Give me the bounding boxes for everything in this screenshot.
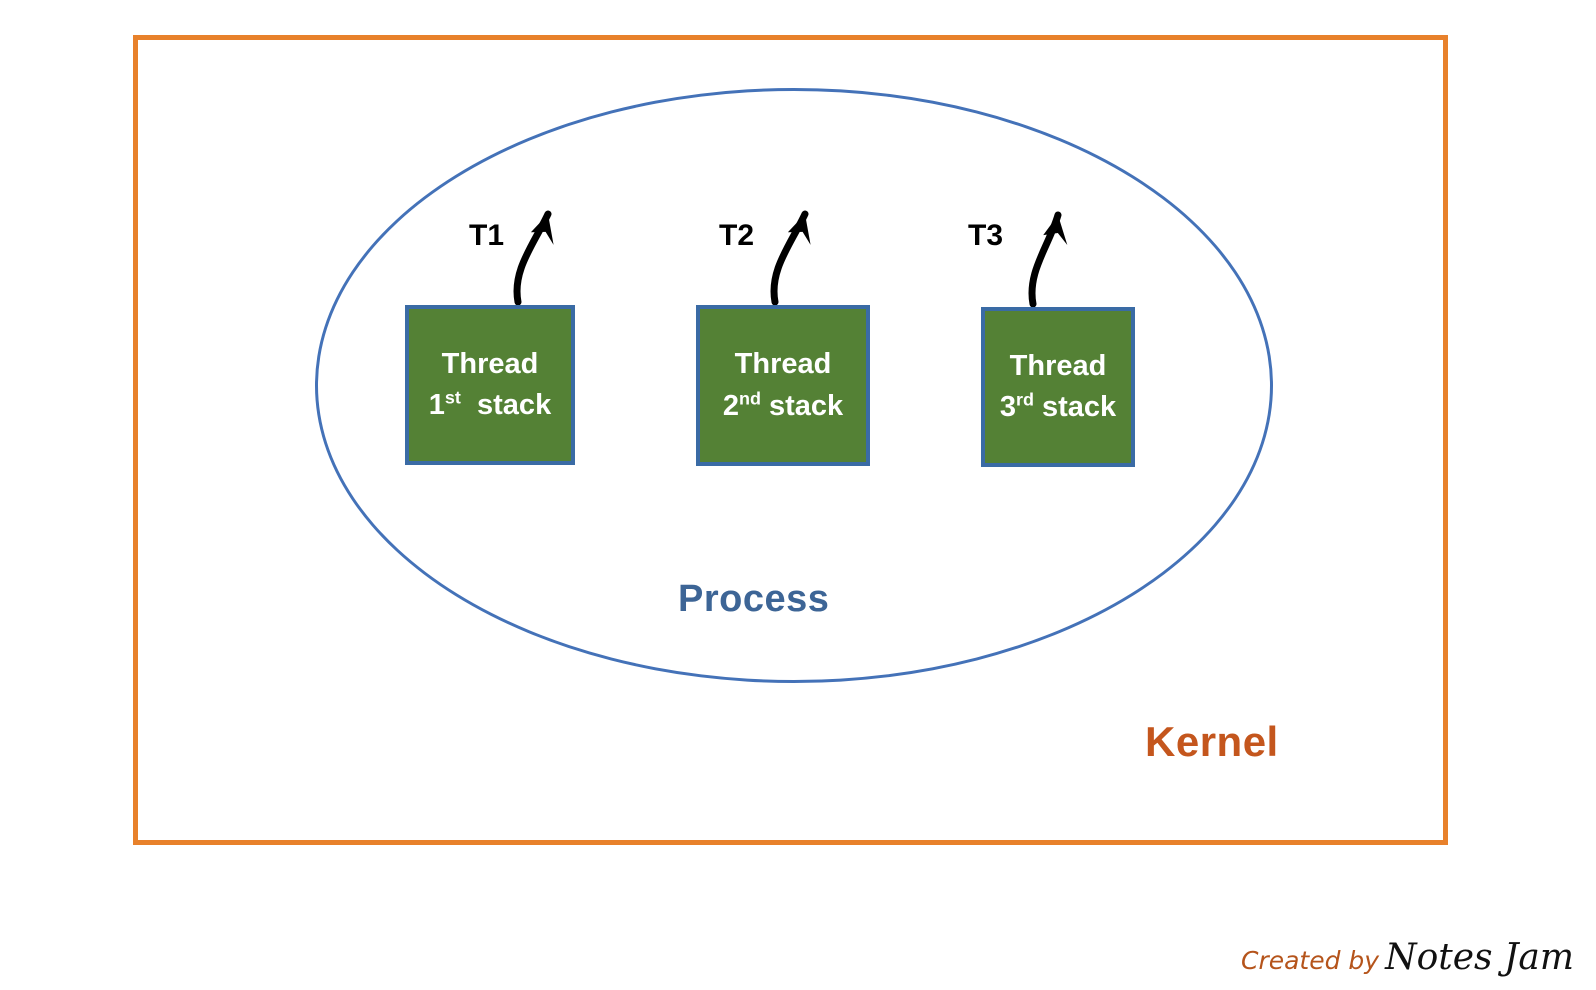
thread-box-line2: 2nd stack bbox=[723, 386, 843, 427]
thread-box-line1: Thread bbox=[442, 344, 539, 385]
process-label: Process bbox=[678, 578, 829, 621]
thread-box-line2: 1st stack bbox=[429, 385, 551, 426]
thread-ordinal-suffix: rd bbox=[1016, 389, 1034, 409]
watermark-brand: Notes Jam bbox=[1385, 937, 1574, 978]
watermark: Created byNotes Jam bbox=[1241, 937, 1574, 978]
thread-ordinal-suffix: nd bbox=[739, 388, 761, 408]
thread-box-line1: Thread bbox=[735, 344, 832, 385]
thread-ordinal-suffix: st bbox=[445, 387, 461, 407]
kernel-label: Kernel bbox=[1145, 718, 1279, 766]
thread-stack-word: stack bbox=[461, 389, 551, 421]
thread-stack-word: stack bbox=[1034, 391, 1116, 423]
thread-label-t2: T2 bbox=[719, 219, 754, 253]
thread-stack-word: stack bbox=[761, 390, 843, 422]
diagram-canvas: T1 T2 T3 Thread 1st stack Thread 2nd sta… bbox=[0, 0, 1596, 990]
thread-ordinal-number: 1 bbox=[429, 389, 445, 421]
watermark-created-by: Created by bbox=[1241, 946, 1379, 975]
thread-stack-box-1: Thread 1st stack bbox=[405, 305, 575, 465]
thread-ordinal-number: 2 bbox=[723, 390, 739, 422]
thread-box-line1: Thread bbox=[1010, 346, 1107, 387]
thread-stack-box-2: Thread 2nd stack bbox=[696, 305, 870, 466]
thread-box-line2: 3rd stack bbox=[1000, 387, 1116, 428]
thread-stack-box-3: Thread 3rd stack bbox=[981, 307, 1135, 467]
thread-ordinal-number: 3 bbox=[1000, 391, 1016, 423]
thread-label-t3: T3 bbox=[968, 219, 1003, 253]
thread-label-t1: T1 bbox=[469, 219, 504, 253]
